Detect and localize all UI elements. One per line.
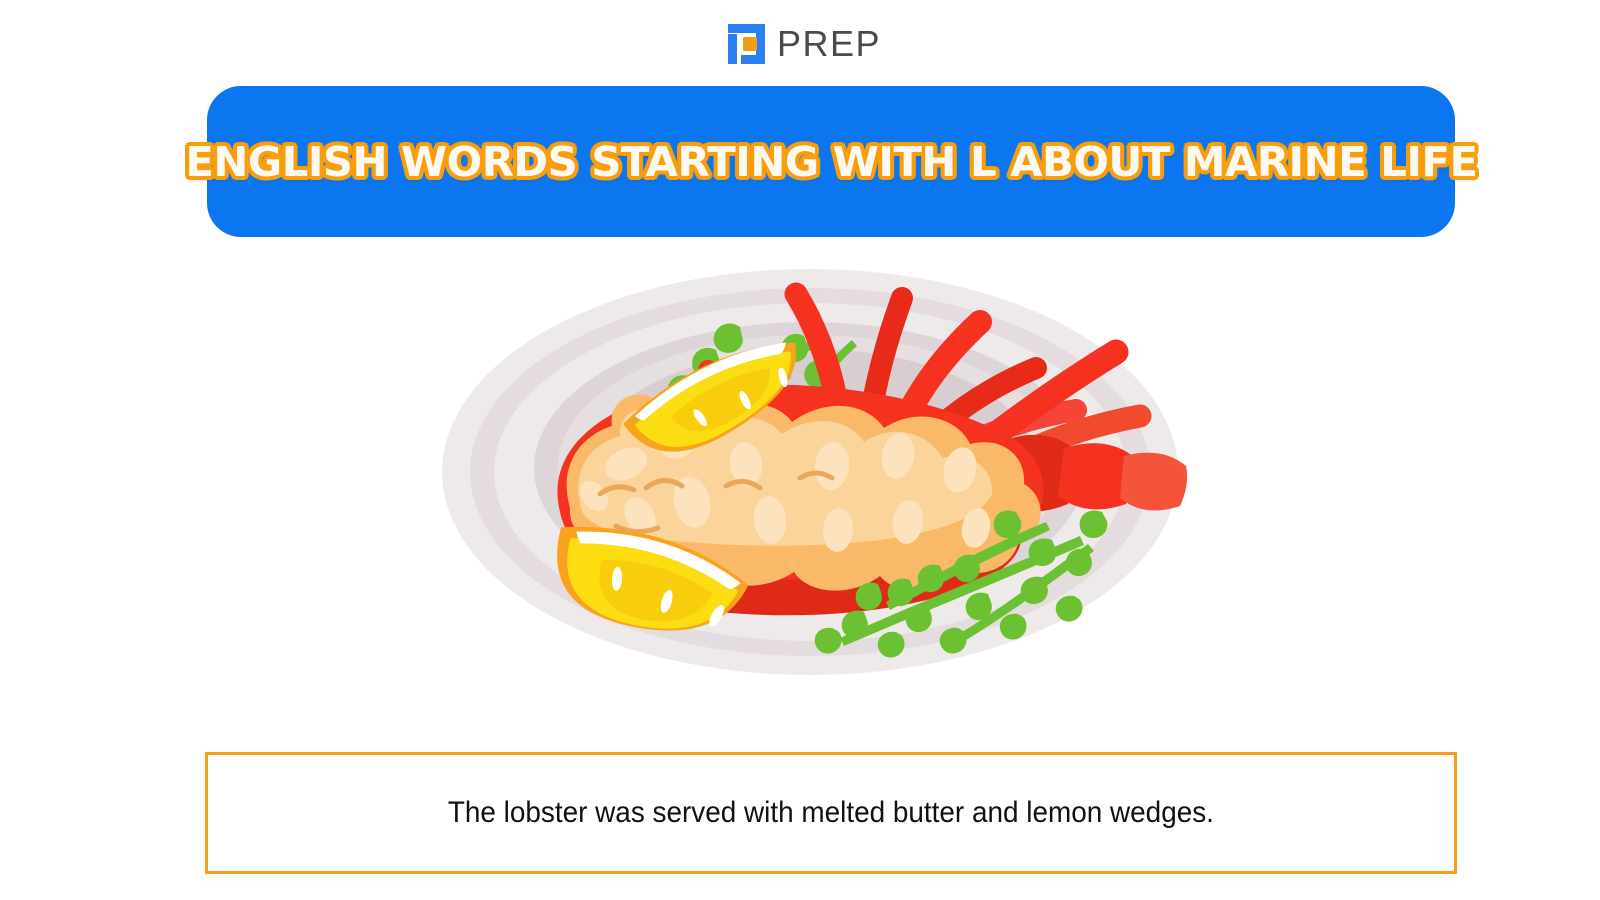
prep-logo-icon <box>719 21 765 67</box>
logo-bottom-bar <box>741 55 761 64</box>
brand-name: PREP <box>777 26 881 62</box>
page-title: ENGLISH WORDS STARTING WITH L ABOUT MARI… <box>185 138 1477 186</box>
title-banner: ENGLISH WORDS STARTING WITH L ABOUT MARI… <box>207 86 1455 237</box>
logo-stem-bar <box>728 34 737 64</box>
lobster-tempura-plate-illustration <box>440 250 1220 700</box>
example-sentence-text: The lobster was served with melted butte… <box>448 796 1214 830</box>
example-sentence-box: The lobster was served with melted butte… <box>205 752 1457 874</box>
brand-header: PREP <box>0 14 1600 74</box>
logo-orange-square <box>743 37 757 51</box>
lobster-tempura-svg <box>440 250 1220 700</box>
